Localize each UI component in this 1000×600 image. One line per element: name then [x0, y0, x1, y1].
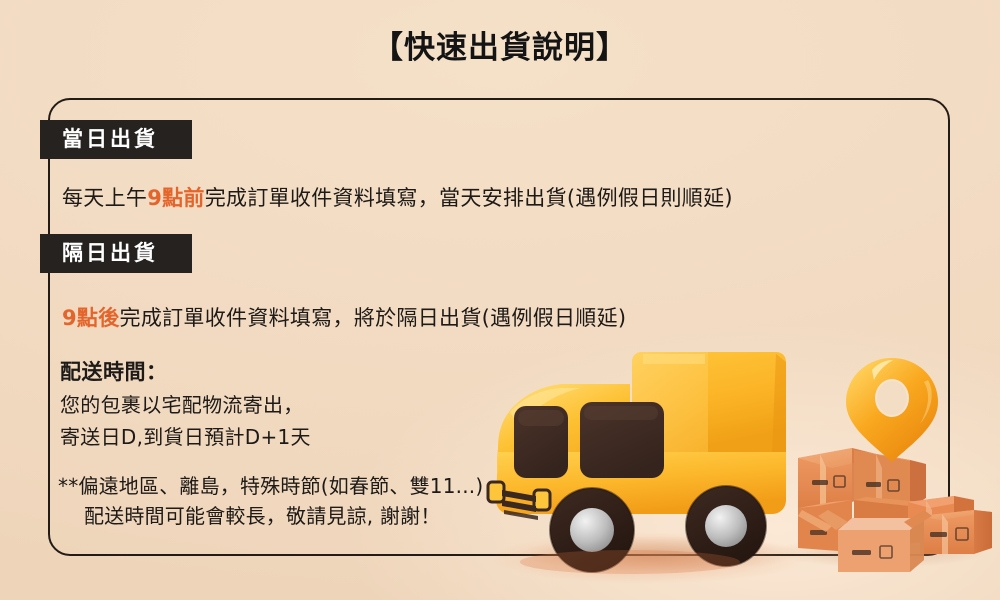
delivery-time-line-2: 寄送日D,到貨日預計D+1天	[60, 421, 800, 450]
delivery-time-line-1: 您的包裹以宅配物流寄出，	[60, 389, 800, 418]
badge-next-day-shipping: 隔日出貨	[40, 234, 192, 273]
next-day-suffix: 完成訂單收件資料填寫，將於隔日出貨(遇例假日順延)	[120, 306, 627, 330]
same-day-suffix: 完成訂單收件資料填寫，當天安排出貨(遇例假日則順延)	[205, 186, 733, 210]
badge-same-day-shipping: 當日出貨	[40, 120, 192, 159]
same-day-shipping-description: 每天上午9點前完成訂單收件資料填寫，當天安排出貨(遇例假日則順延)	[62, 182, 800, 212]
footnote-line-1: **偏遠地區、離島，特殊時節(如春節、雙11...)	[58, 474, 483, 498]
info-content: 當日出貨 每天上午9點前完成訂單收件資料填寫，當天安排出貨(遇例假日則順延) 隔…	[40, 120, 800, 531]
delivery-time-heading: 配送時間：	[60, 356, 800, 386]
footnote-block: **偏遠地區、離島，特殊時節(如春節、雙11...) 配送時間可能會較長，敬請見…	[58, 471, 800, 531]
page-title: 【快速出貨說明】	[0, 22, 1000, 67]
next-day-shipping-description: 9點後完成訂單收件資料填寫，將於隔日出貨(遇例假日順延)	[62, 302, 800, 332]
next-day-cutoff-time: 9點後	[62, 306, 120, 330]
delivery-time-block: 配送時間： 您的包裹以宅配物流寄出， 寄送日D,到貨日預計D+1天	[60, 356, 800, 450]
footnote-line-2: 配送時間可能會較長，敬請見諒, 謝謝！	[58, 501, 800, 531]
page-background: 【快速出貨說明】 當日出貨 每天上午9點前完成訂單收件資料填寫，當天安排出貨(遇…	[0, 0, 1000, 600]
same-day-cutoff-time: 9點前	[147, 186, 205, 210]
same-day-prefix: 每天上午	[62, 186, 147, 210]
